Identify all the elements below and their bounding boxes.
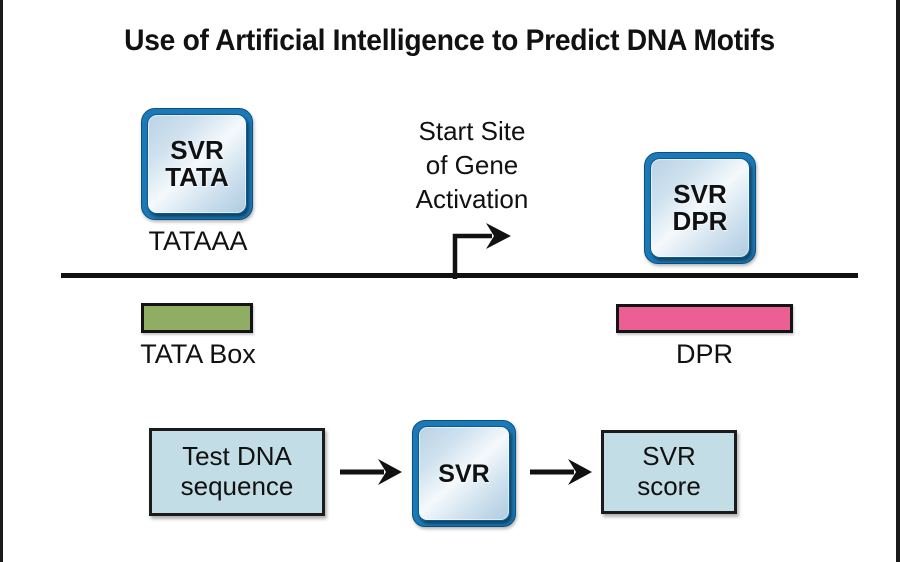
- svr-model-box: SVR: [412, 420, 516, 527]
- flow-arrow-right-icon-1: [340, 455, 402, 489]
- svr-tata-model-box: SVR TATA: [141, 108, 253, 220]
- dpr-motif-bar: [616, 304, 793, 333]
- svr-score-line2: score: [637, 472, 701, 502]
- figure-canvas: Use of Artificial Intelligence to Predic…: [0, 0, 900, 562]
- flow-arrow-right-icon-2: [530, 455, 592, 489]
- start-site-line2: of Gene: [377, 149, 567, 183]
- svr-dpr-line2: DPR: [673, 208, 728, 235]
- svr-dpr-line1: SVR: [673, 181, 726, 208]
- svr-tata-line2: TATA: [165, 164, 229, 191]
- svr-dpr-inner-panel: SVR DPR: [650, 158, 750, 258]
- start-site-line3: Activation: [377, 183, 567, 217]
- start-site-caption: Start Site of Gene Activation: [377, 115, 567, 216]
- tata-box-motif-bar: [141, 303, 253, 333]
- svr-tata-inner-panel: SVR TATA: [147, 114, 247, 214]
- svr-model-line1: SVR: [438, 461, 489, 487]
- transcription-start-arrow-icon: [439, 221, 519, 279]
- svr-score-box: SVR score: [601, 430, 737, 514]
- tata-box-label: TATA Box: [3, 339, 393, 370]
- svr-score-line1: SVR: [642, 442, 695, 472]
- dna-strand-line: [61, 273, 858, 278]
- svr-dpr-model-box: SVR DPR: [644, 152, 756, 264]
- svr-model-inner-panel: SVR: [418, 426, 510, 521]
- svr-tata-line1: SVR: [170, 137, 223, 164]
- test-dna-line1: Test DNA: [182, 442, 292, 472]
- test-dna-line2: sequence: [181, 472, 294, 502]
- page-title: Use of Artificial Intelligence to Predic…: [30, 24, 869, 58]
- dpr-label: DPR: [616, 339, 793, 370]
- start-site-line1: Start Site: [377, 115, 567, 149]
- test-dna-sequence-box: Test DNA sequence: [149, 428, 325, 516]
- tataaa-sequence-label: TATAAA: [3, 226, 393, 257]
